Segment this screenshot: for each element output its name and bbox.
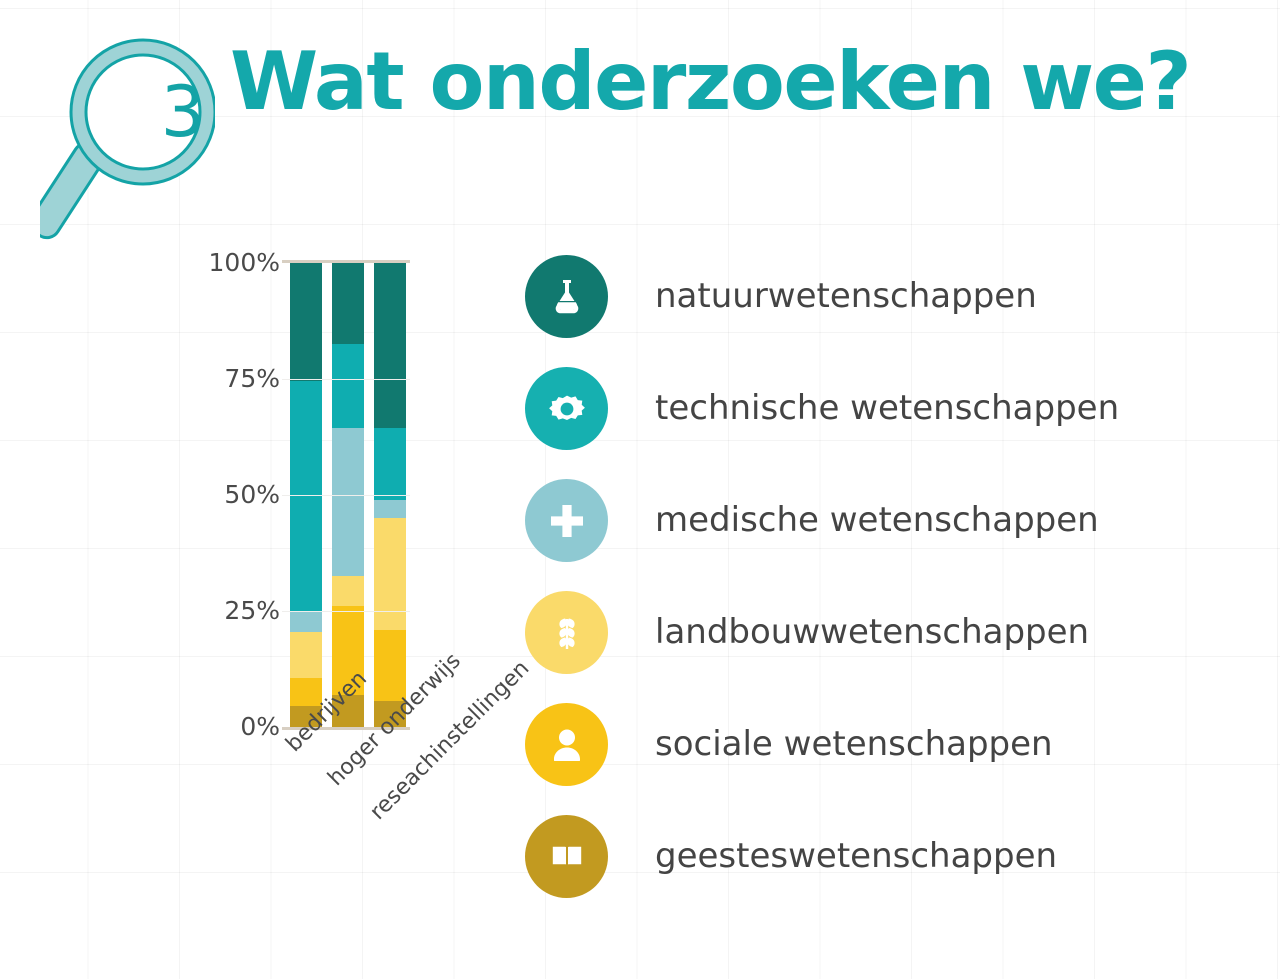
bar-segment — [290, 632, 322, 678]
bar-segment — [332, 576, 364, 606]
bar-segment — [290, 263, 322, 381]
gridline — [282, 495, 410, 496]
stacked-bar-chart: 100%75%50%25%0% bedrijvenhoger onderwijs… — [190, 250, 440, 750]
book-icon — [525, 815, 608, 898]
x-axis: bedrijvenhoger onderwijsreseachinstellin… — [276, 730, 456, 900]
legend-item-geesteswetenschappen[interactable]: geesteswetenschappen — [525, 815, 1165, 927]
legend: natuurwetenschappen technische wetenscha… — [525, 255, 1165, 927]
bar-segment — [332, 344, 364, 428]
slide-number: 3 — [144, 72, 222, 152]
bar-segment — [290, 611, 322, 632]
legend-label: geesteswetenschappen — [655, 833, 1057, 879]
legend-label: sociale wetenschappen — [655, 721, 1053, 767]
legend-item-sociale-wetenschappen[interactable]: sociale wetenschappen — [525, 703, 1165, 815]
y-tick-label: 0% — [190, 714, 280, 739]
bar-segment — [332, 263, 364, 344]
bar-segment — [332, 428, 364, 576]
y-axis: 100%75%50%25%0% — [190, 250, 280, 730]
y-tick-label: 75% — [190, 366, 280, 391]
magnifier-icon: 3 — [40, 20, 215, 240]
legend-label: natuurwetenschappen — [655, 273, 1037, 319]
gridline — [282, 611, 410, 612]
bar-segment — [290, 381, 322, 611]
legend-item-natuurwetenschappen[interactable]: natuurwetenschappen — [525, 255, 1165, 367]
gridline — [282, 379, 410, 380]
legend-label: medische wetenschappen — [655, 497, 1099, 543]
slide-canvas: 3 Wat onderzoeken we? 100%75%50%25%0% be… — [0, 0, 1280, 979]
chart-plot-area — [290, 263, 410, 727]
flask-icon — [525, 255, 608, 338]
person-icon — [525, 703, 608, 786]
page-title: Wat onderzoeken we? — [230, 34, 1190, 130]
legend-item-technische-wetenschappen[interactable]: technische wetenschappen — [525, 367, 1165, 479]
slide-header: 3 Wat onderzoeken we? — [0, 0, 1280, 240]
y-tick-label: 25% — [190, 598, 280, 623]
bar-segment — [374, 630, 406, 702]
legend-item-landbouwwetenschappen[interactable]: landbouwwetenschappen — [525, 591, 1165, 703]
wheat-icon — [525, 591, 608, 674]
legend-label: landbouwwetenschappen — [655, 609, 1089, 655]
bar-segment — [374, 500, 406, 519]
plus-icon — [525, 479, 608, 562]
legend-label: technische wetenschappen — [655, 385, 1119, 431]
bar-segment — [374, 428, 406, 500]
y-tick-label: 50% — [190, 482, 280, 507]
bar-segment — [374, 518, 406, 629]
gear-icon — [525, 367, 608, 450]
legend-item-medische-wetenschappen[interactable]: medische wetenschappen — [525, 479, 1165, 591]
bar-segment — [374, 263, 406, 428]
y-tick-label: 100% — [190, 250, 280, 275]
